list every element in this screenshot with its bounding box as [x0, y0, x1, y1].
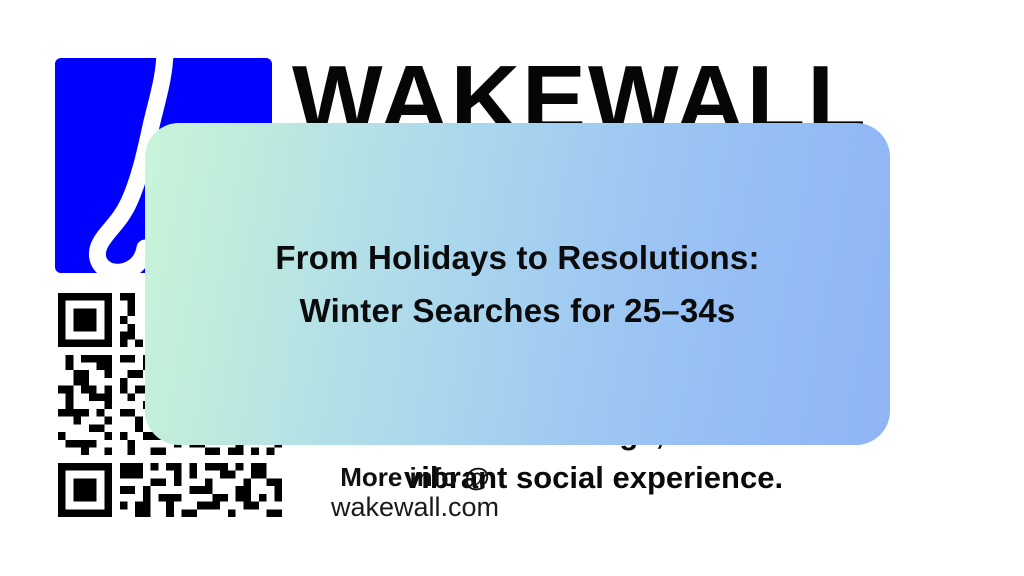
overlay-title-line-2: Winter Searches for 25–34s	[300, 284, 736, 337]
more-info-url[interactable]: wakewall.com	[300, 492, 530, 523]
more-info-block: More info @ wakewall.com	[300, 462, 530, 523]
overlay-title-line-1: From Holidays to Resolutions:	[275, 231, 759, 284]
more-info-label: More info @	[300, 462, 530, 492]
poster-canvas: WAKEWALL w	[0, 0, 1024, 576]
overlay-title-card[interactable]: From Holidays to Resolutions: Winter Sea…	[145, 123, 890, 445]
